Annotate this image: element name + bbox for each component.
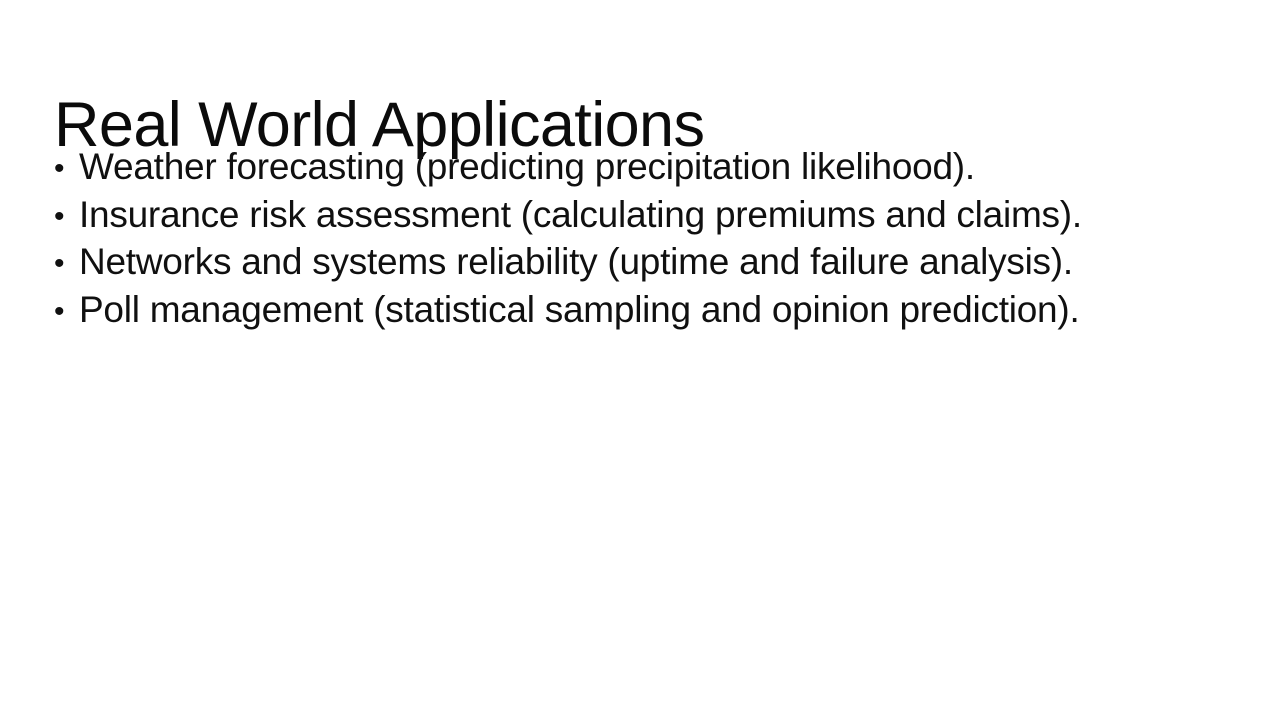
bullet-point-icon: • xyxy=(54,193,79,241)
list-item: • Insurance risk assessment (calculating… xyxy=(54,191,1154,239)
list-item-label: Poll management (statistical sampling an… xyxy=(79,286,1079,334)
list-item: • Networks and systems reliability (upti… xyxy=(54,238,1154,286)
list-item-label: Weather forecasting (predicting precipit… xyxy=(79,143,975,191)
bullet-point-icon: • xyxy=(54,240,79,288)
list-item: • Poll management (statistical sampling … xyxy=(54,286,1154,334)
bullet-list: • Weather forecasting (predicting precip… xyxy=(54,143,1154,333)
bullet-point-icon: • xyxy=(54,145,79,193)
bullet-point-icon: • xyxy=(54,288,79,336)
list-item-label: Insurance risk assessment (calculating p… xyxy=(79,191,1082,239)
list-item-label: Networks and systems reliability (uptime… xyxy=(79,238,1073,286)
list-item: • Weather forecasting (predicting precip… xyxy=(54,143,1154,191)
slide-canvas: Real World Applications • Weather foreca… xyxy=(0,0,1280,720)
